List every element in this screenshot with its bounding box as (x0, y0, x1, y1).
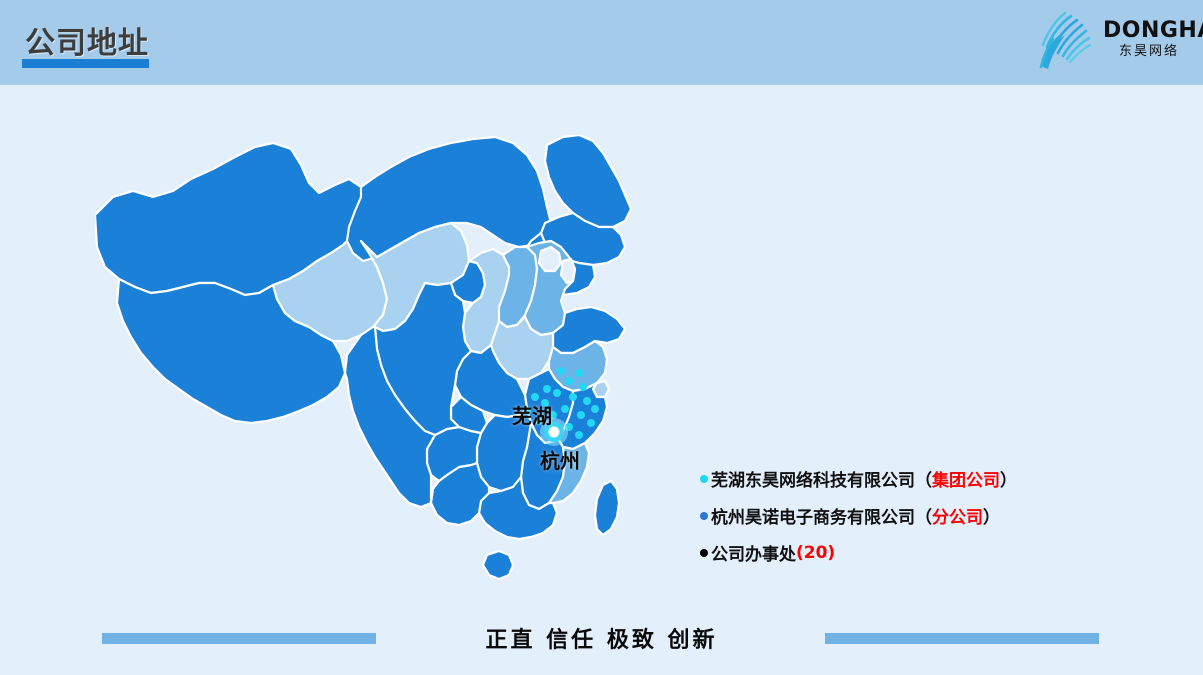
china-map[interactable]: 芜湖 杭州 (95, 135, 695, 620)
page-title: 公司地址 (25, 18, 149, 62)
legend-paren-open: （ (915, 503, 932, 528)
address-legend: 芜湖东昊网络科技有限公司 （ 集团公司 ） 杭州昊诺电子商务有限公司 （ 分公司… (700, 460, 1120, 571)
region-tianjin (561, 259, 575, 283)
legend-tag: 分公司 (932, 503, 983, 528)
region-hainan (483, 551, 513, 579)
donghao-feather-logo-icon (1035, 7, 1103, 75)
company-logo: DONGHAO 东昊网络 (1025, 5, 1195, 77)
city-label-wuhu: 芜湖 (512, 400, 552, 429)
legend-paren-close: ） (1000, 466, 1017, 491)
city-label-hangzhou: 杭州 (540, 445, 580, 474)
bullet-icon (700, 475, 708, 483)
legend-paren-close: ） (983, 503, 1000, 528)
bullet-icon (700, 512, 708, 520)
region-heilongjiang (545, 135, 631, 227)
logo-chinese-name: 东昊网络 (1103, 43, 1195, 61)
list-item[interactable]: 芜湖东昊网络科技有限公司 （ 集团公司 ） (700, 460, 1120, 497)
page-header: 公司地址 DONGHAO 东昊网络 (0, 0, 1203, 85)
region-taiwan (595, 481, 619, 535)
legend-company-name: 公司办事处 (711, 540, 796, 565)
bullet-icon (700, 549, 708, 557)
list-item[interactable]: 公司办事处 (20) (700, 534, 1120, 571)
legend-company-name: 杭州昊诺电子商务有限公司 (711, 503, 915, 528)
list-item[interactable]: 杭州昊诺电子商务有限公司 （ 分公司 ） (700, 497, 1120, 534)
legend-tag: (20) (796, 543, 835, 563)
logo-english-name: DONGHAO (1103, 19, 1195, 43)
title-underline-bar (22, 59, 149, 68)
legend-tag: 集团公司 (932, 466, 1000, 491)
logo-wordmark: DONGHAO 东昊网络 (1103, 19, 1195, 61)
footer-bar-right (825, 633, 1099, 644)
legend-paren-open: （ (915, 466, 932, 491)
legend-company-name: 芜湖东昊网络科技有限公司 (711, 466, 915, 491)
